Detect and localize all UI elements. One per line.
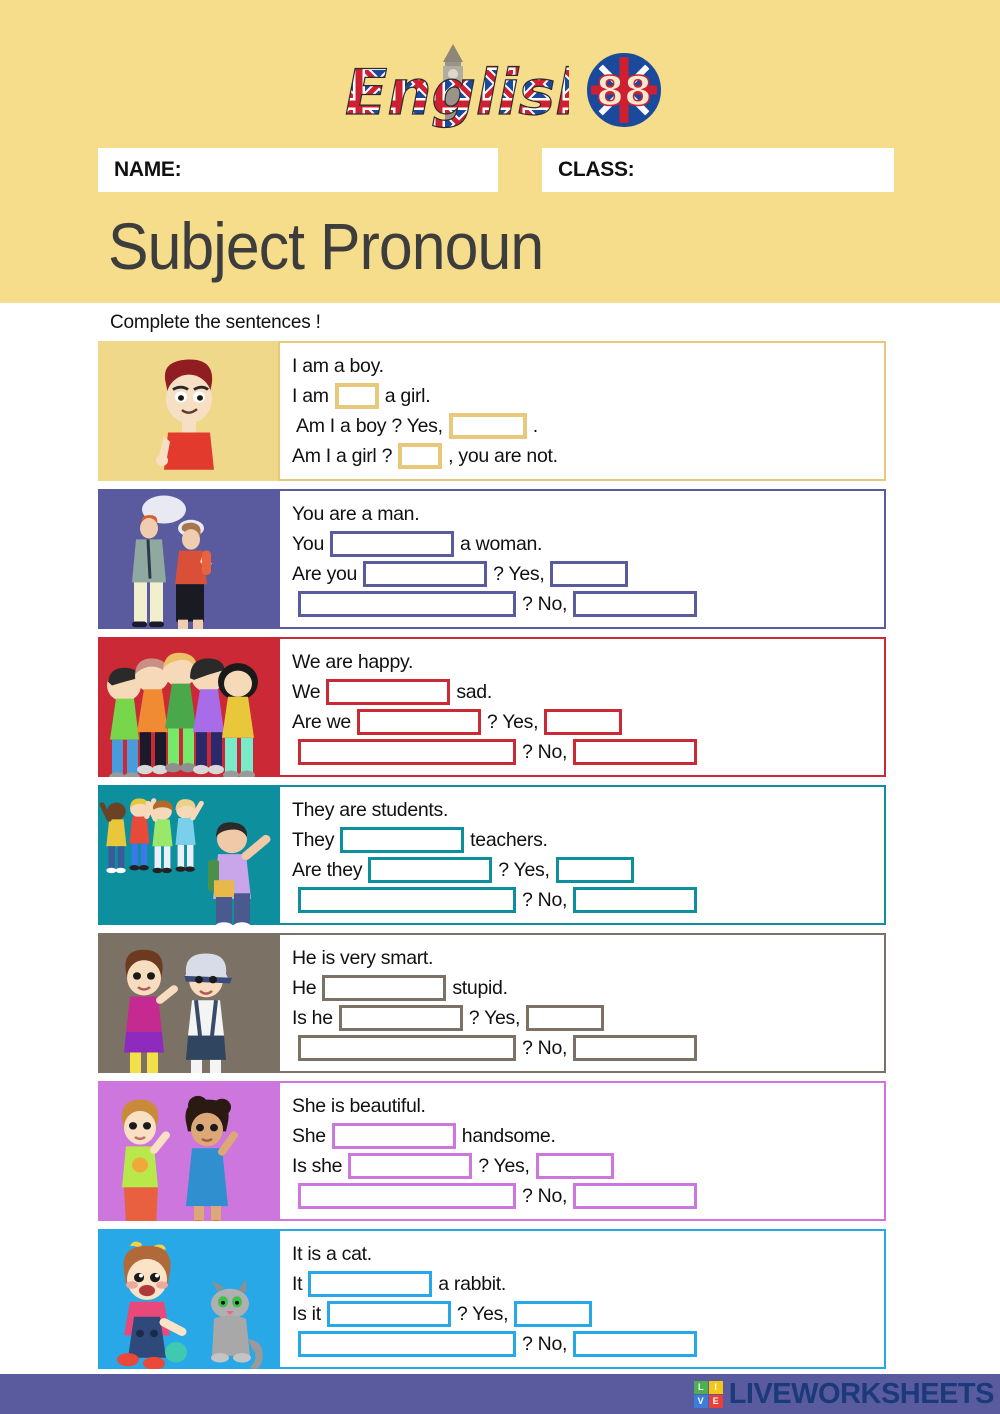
liveworksheets-tiles-icon: LIVE — [694, 1381, 723, 1408]
sentence-text: sad. — [456, 677, 492, 707]
sentence-text: a rabbit. — [438, 1269, 506, 1299]
english-logo: English 88 — [320, 42, 680, 138]
sentence-text: ? No, — [522, 737, 567, 767]
sentence-line: ? No, — [292, 737, 874, 767]
answer-blank[interactable] — [327, 1301, 451, 1327]
sentence-text: He is very smart. — [292, 943, 433, 973]
sentence-line: We are happy. — [292, 647, 874, 677]
answer-blank[interactable] — [339, 1005, 463, 1031]
sentence-text: We are happy. — [292, 647, 413, 677]
sentence-line: Wesad. — [292, 677, 874, 707]
sentence-text: Are they — [292, 855, 362, 885]
answer-blank[interactable] — [368, 857, 492, 883]
answer-blank[interactable] — [398, 443, 442, 469]
sentence-text: She — [292, 1121, 326, 1151]
answer-blank[interactable] — [308, 1271, 432, 1297]
sentence-text: They are students. — [292, 795, 448, 825]
sentence-line: Ita rabbit. — [292, 1269, 874, 1299]
answer-blank[interactable] — [332, 1123, 456, 1149]
answer-blank[interactable] — [573, 1331, 697, 1357]
badge-number: 88 — [596, 69, 652, 115]
exercise-text-you: You are a man.Youa woman.Are you? Yes,? … — [278, 489, 886, 629]
answer-blank[interactable] — [298, 1331, 516, 1357]
sentence-text: Is he — [292, 1003, 333, 1033]
name-field[interactable]: NAME: — [98, 148, 498, 192]
exercise-row-it: It is a cat.Ita rabbit.Is it? Yes,? No, — [0, 1229, 886, 1369]
answer-blank[interactable] — [298, 1035, 516, 1061]
sentence-line: Are they? Yes, — [292, 855, 874, 885]
answer-blank[interactable] — [573, 1183, 697, 1209]
exercise-text-they: They are students.Theyteachers.Are they?… — [278, 785, 886, 925]
sentence-text: I am a boy. — [292, 351, 384, 381]
sentence-text: ? No, — [522, 885, 567, 915]
sentence-line: Is it? Yes, — [292, 1299, 874, 1329]
sentence-text: handsome. — [462, 1121, 556, 1151]
logo-tile-e: E — [709, 1395, 723, 1408]
liveworksheets-wordmark: LIVEWORKSHEETS — [729, 1378, 994, 1411]
sentence-line: Are we? Yes, — [292, 707, 874, 737]
sentence-line: Hestupid. — [292, 973, 874, 1003]
instruction-text: Complete the sentences ! — [110, 312, 321, 334]
answer-blank[interactable] — [330, 531, 454, 557]
sentence-text: It — [292, 1269, 302, 1299]
sentence-text: a girl. — [385, 381, 431, 411]
footer-bar: LIVE LIVEWORKSHEETS — [0, 1374, 1000, 1414]
sentence-line: Youa woman. — [292, 529, 874, 559]
answer-blank[interactable] — [573, 887, 697, 913]
sentence-text: ? Yes, — [487, 707, 538, 737]
answer-blank[interactable] — [556, 857, 634, 883]
sentence-text: He — [292, 973, 316, 1003]
header-band: English 88 NAME: CLASS: — [0, 0, 1000, 303]
page-title: Subject Pronoun — [108, 208, 543, 284]
exercise-image-they — [98, 785, 278, 925]
answer-blank[interactable] — [357, 709, 481, 735]
sentence-line: I am a boy. — [292, 351, 874, 381]
sentence-text: Am I a girl ? — [292, 441, 392, 471]
sentence-line: ? No, — [292, 1181, 874, 1211]
sentence-text: I am — [292, 381, 329, 411]
answer-blank[interactable] — [348, 1153, 472, 1179]
exercise-image-he — [98, 933, 278, 1073]
sentence-text: Am I a boy ? Yes, — [292, 411, 443, 441]
answer-blank[interactable] — [550, 561, 628, 587]
answer-blank[interactable] — [335, 383, 379, 409]
answer-blank[interactable] — [298, 887, 516, 913]
sentence-text: Are we — [292, 707, 351, 737]
exercise-image-we — [98, 637, 278, 777]
sentence-text: She is beautiful. — [292, 1091, 426, 1121]
logo-tile-v: V — [694, 1395, 708, 1408]
liveworksheets-logo[interactable]: LIVE LIVEWORKSHEETS — [694, 1378, 994, 1411]
sentence-line: She is beautiful. — [292, 1091, 874, 1121]
exercise-row-he: He is very smart.Hestupid.Is he? Yes,? N… — [0, 933, 886, 1073]
answer-blank[interactable] — [536, 1153, 614, 1179]
sentence-text: ? Yes, — [493, 559, 544, 589]
answer-blank[interactable] — [363, 561, 487, 587]
answer-blank[interactable] — [449, 413, 527, 439]
exercise-text-i: I am a boy.I ama girl. Am I a boy ? Yes,… — [278, 341, 886, 481]
sentence-text: ? No, — [522, 1181, 567, 1211]
english-wordmark-icon: English — [339, 44, 569, 136]
badge-88-icon: 88 — [587, 53, 661, 127]
sentence-line: ? No, — [292, 1033, 874, 1063]
class-field[interactable]: CLASS: — [542, 148, 894, 192]
exercise-text-he: He is very smart.Hestupid.Is he? Yes,? N… — [278, 933, 886, 1073]
exercise-list: I am a boy.I ama girl. Am I a boy ? Yes,… — [0, 341, 1000, 1377]
sentence-text: You — [292, 529, 324, 559]
sentence-text: ? Yes, — [498, 855, 549, 885]
answer-blank[interactable] — [298, 739, 516, 765]
sentence-line: ? No, — [292, 1329, 874, 1359]
sentence-text: ? Yes, — [478, 1151, 529, 1181]
answer-blank[interactable] — [573, 739, 697, 765]
sentence-line: It is a cat. — [292, 1239, 874, 1269]
answer-blank[interactable] — [514, 1301, 592, 1327]
sentence-line: ? No, — [292, 589, 874, 619]
answer-blank[interactable] — [573, 591, 697, 617]
class-label: CLASS: — [558, 158, 634, 182]
exercise-row-you: You are a man.Youa woman.Are you? Yes,? … — [0, 489, 886, 629]
exercise-row-we: We are happy.Wesad.Are we? Yes,? No, — [0, 637, 886, 777]
answer-blank[interactable] — [340, 827, 464, 853]
sentence-line: Shehandsome. — [292, 1121, 874, 1151]
svg-text:English: English — [345, 56, 569, 129]
sentence-text: teachers. — [470, 825, 548, 855]
sentence-line: Is she? Yes, — [292, 1151, 874, 1181]
answer-blank[interactable] — [544, 709, 622, 735]
exercise-text-she: She is beautiful.Shehandsome.Is she? Yes… — [278, 1081, 886, 1221]
sentence-text: Is she — [292, 1151, 342, 1181]
sentence-text: Are you — [292, 559, 357, 589]
answer-blank[interactable] — [322, 975, 446, 1001]
sentence-line: Are you? Yes, — [292, 559, 874, 589]
sentence-line: Is he? Yes, — [292, 1003, 874, 1033]
sentence-line: Theyteachers. — [292, 825, 874, 855]
exercise-text-it: It is a cat.Ita rabbit.Is it? Yes,? No, — [278, 1229, 886, 1369]
sentence-line: They are students. — [292, 795, 874, 825]
answer-blank[interactable] — [526, 1005, 604, 1031]
logo-tile-i: I — [709, 1381, 723, 1394]
answer-blank[interactable] — [298, 1183, 516, 1209]
sentence-text: We — [292, 677, 320, 707]
answer-blank[interactable] — [573, 1035, 697, 1061]
sentence-line: ? No, — [292, 885, 874, 915]
sentence-text: ? No, — [522, 589, 567, 619]
exercise-row-she: She is beautiful.Shehandsome.Is she? Yes… — [0, 1081, 886, 1221]
sentence-text: . — [533, 411, 538, 441]
exercise-image-she — [98, 1081, 278, 1221]
answer-blank[interactable] — [298, 591, 516, 617]
sentence-text: ? No, — [522, 1329, 567, 1359]
exercise-row-they: They are students.Theyteachers.Are they?… — [0, 785, 886, 925]
sentence-line: Am I a boy ? Yes,. — [292, 411, 874, 441]
sentence-line: He is very smart. — [292, 943, 874, 973]
exercise-image-i — [98, 341, 278, 481]
sentence-line: You are a man. — [292, 499, 874, 529]
sentence-text: It is a cat. — [292, 1239, 372, 1269]
sentence-text: ? Yes, — [457, 1299, 508, 1329]
sentence-text: Is it — [292, 1299, 321, 1329]
exercise-row-i: I am a boy.I ama girl. Am I a boy ? Yes,… — [0, 341, 886, 481]
exercise-image-it — [98, 1229, 278, 1369]
sentence-line: Am I a girl ?, you are not. — [292, 441, 874, 471]
logo-tile-l: L — [694, 1381, 708, 1394]
exercise-text-we: We are happy.Wesad.Are we? Yes,? No, — [278, 637, 886, 777]
exercise-image-you — [98, 489, 278, 629]
sentence-text: You are a man. — [292, 499, 419, 529]
sentence-text: They — [292, 825, 334, 855]
sentence-text: stupid. — [452, 973, 507, 1003]
sentence-text: ? No, — [522, 1033, 567, 1063]
sentence-text: a woman. — [460, 529, 542, 559]
sentence-text: ? Yes, — [469, 1003, 520, 1033]
sentence-line: I ama girl. — [292, 381, 874, 411]
sentence-text: , you are not. — [448, 441, 558, 471]
name-label: NAME: — [114, 158, 181, 182]
answer-blank[interactable] — [326, 679, 450, 705]
student-fields: NAME: CLASS: — [0, 148, 1000, 192]
